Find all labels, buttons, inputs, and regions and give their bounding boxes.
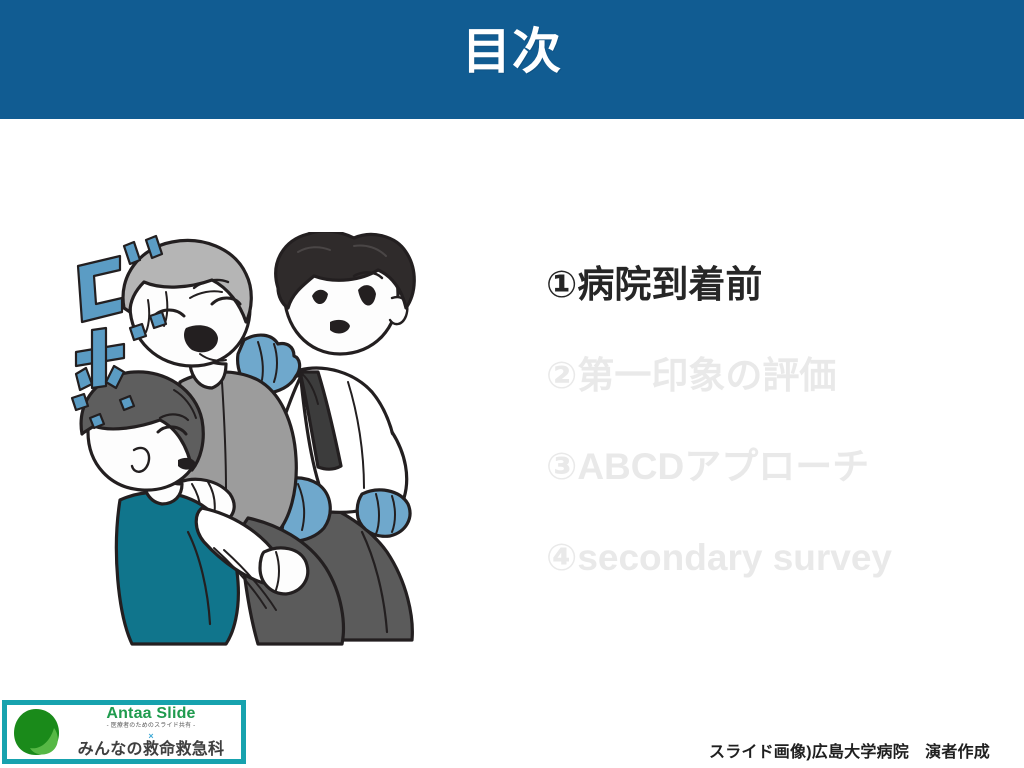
cough-glyph-2c: [76, 368, 92, 390]
illustration-svg: [62, 232, 444, 662]
antaa-cross-symbol: ×: [64, 731, 238, 741]
image-credit: スライド画像)広島大学病院 演者作成: [709, 738, 990, 762]
cough-dakuten-1: [124, 242, 140, 264]
antaa-slide-logo[interactable]: Antaa Slide - 医療者のためのスライド共有 - × みんなの救命救急…: [2, 700, 246, 764]
illustration-emergency-scene: [62, 232, 444, 662]
cough-speck-1: [72, 394, 88, 410]
cough-speck-3: [120, 396, 134, 410]
antaa-tagline: - 医療者のためのスライド共有 -: [64, 722, 238, 731]
agenda-item-4[interactable]: ④secondary survey: [546, 535, 1016, 581]
antaa-logo-text-block: Antaa Slide - 医療者のためのスライド共有 - × みんなの救命救急…: [64, 705, 241, 759]
agenda-item-1[interactable]: ①病院到着前: [546, 262, 1016, 308]
cough-glyph-3a: [130, 324, 146, 340]
page-title: 目次: [0, 22, 1024, 82]
cough-glyph-3b: [150, 312, 166, 328]
antaa-brand-name: Antaa Slide: [64, 705, 238, 722]
cough-glyph-2b: [92, 328, 106, 388]
slide-header-band: 目次: [0, 0, 1024, 119]
agenda-list: ①病院到着前 ②第一印象の評価 ③ABCDアプローチ ④secondary su…: [546, 262, 1016, 581]
medic-ear: [132, 448, 149, 472]
slide-root: 目次: [0, 0, 1024, 768]
antaa-channel-name: みんなの救命救急科: [64, 741, 238, 759]
doctor-glove-right: [357, 490, 410, 536]
medic-fist: [260, 548, 308, 594]
cough-glyph-1: [78, 256, 122, 322]
antaa-leaf-icon: [10, 706, 62, 758]
agenda-item-2[interactable]: ②第一印象の評価: [546, 353, 1016, 399]
agenda-item-3[interactable]: ③ABCDアプローチ: [546, 444, 1016, 490]
cough-speck-2: [90, 414, 104, 428]
